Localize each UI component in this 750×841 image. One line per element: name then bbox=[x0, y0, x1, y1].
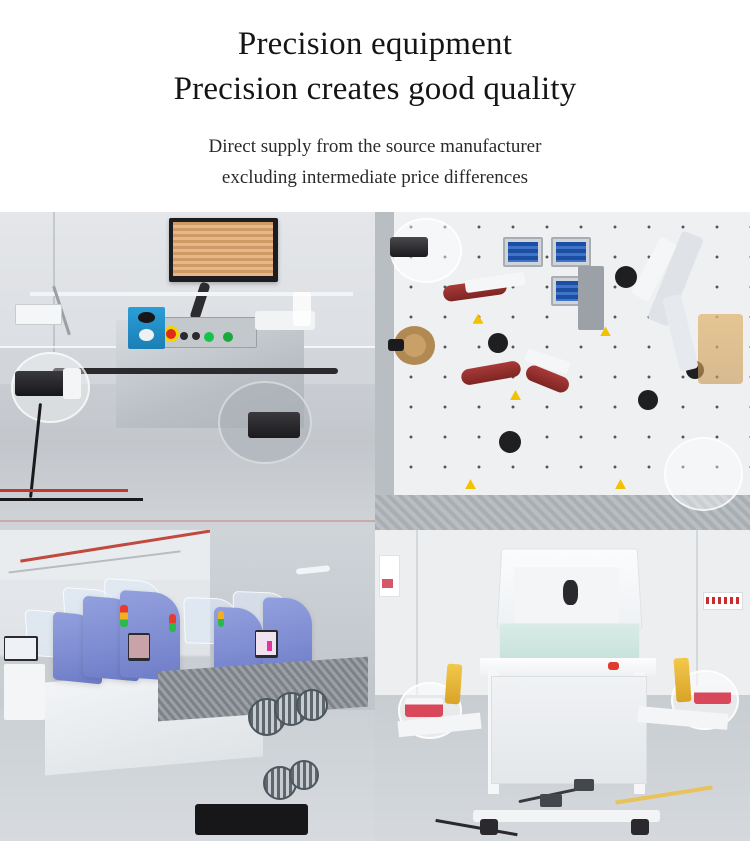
wall-seam bbox=[53, 212, 55, 352]
tan-paper-reel bbox=[394, 326, 435, 364]
lcd-controller-1 bbox=[503, 237, 543, 267]
subhead-line-1: Direct supply from the source manufactur… bbox=[0, 132, 750, 163]
red-warning-sign bbox=[703, 592, 743, 610]
promo-banner-page: Precision equipment Precision creates go… bbox=[0, 0, 750, 841]
photo-factory-line bbox=[0, 530, 375, 841]
left-unwind-core bbox=[405, 698, 443, 717]
subhead-line-2: excluding intermediate price differences bbox=[0, 163, 750, 194]
black-idler-roller-3 bbox=[638, 390, 658, 410]
black-idler-roller-5 bbox=[499, 431, 521, 453]
right-rewind-core bbox=[694, 686, 732, 705]
wall-panel-seam-left bbox=[416, 530, 418, 698]
yellow-guard-post-right bbox=[674, 657, 692, 701]
monitor-screen bbox=[169, 218, 278, 282]
bottom-right-reel bbox=[664, 437, 743, 511]
wall-notice-sheet bbox=[379, 555, 400, 597]
wall-power-socket bbox=[15, 304, 62, 325]
monitor-lower-panel bbox=[173, 258, 273, 276]
floor-marking-line bbox=[0, 520, 375, 522]
table-under-cabinet bbox=[491, 676, 647, 784]
black-idler-roller-2 bbox=[488, 333, 508, 353]
red-control-button bbox=[608, 662, 619, 670]
top-left-reel-core bbox=[390, 237, 428, 256]
power-adapter-1 bbox=[540, 794, 562, 807]
headline-line-1: Precision equipment bbox=[0, 22, 750, 67]
frosted-glass-worktop bbox=[499, 623, 640, 662]
photo-converting-line-closeup bbox=[375, 212, 750, 530]
stack-light-tower-1 bbox=[120, 605, 128, 627]
right-reel-core bbox=[248, 412, 301, 437]
amber-lit-section bbox=[698, 314, 743, 384]
grey-housing bbox=[578, 266, 604, 330]
page-title: Precision equipment Precision creates go… bbox=[0, 22, 750, 112]
caster-wheel-right bbox=[631, 819, 649, 835]
left-reel-core bbox=[15, 371, 75, 396]
black-roller-bar bbox=[53, 368, 338, 374]
green-start-button-1 bbox=[204, 332, 214, 342]
red-cable bbox=[0, 489, 128, 492]
striped-roller-5 bbox=[289, 760, 319, 790]
photo-inspection-table bbox=[375, 530, 750, 841]
black-cable-horizontal bbox=[0, 498, 143, 501]
yellow-guard-post-left bbox=[445, 663, 463, 704]
lcd-controller-2 bbox=[551, 237, 591, 267]
spray-bottle bbox=[293, 292, 312, 327]
power-adapter-2 bbox=[574, 779, 594, 791]
page-subtitle: Direct supply from the source manufactur… bbox=[0, 132, 750, 194]
operator-monitor-left bbox=[4, 636, 38, 661]
machine-hmi-screen-2 bbox=[255, 630, 278, 658]
photo-slitting-machine bbox=[0, 212, 375, 530]
mobile-workstation-cart bbox=[4, 664, 45, 720]
inspection-camera bbox=[563, 580, 578, 605]
stack-light-tower-2 bbox=[169, 614, 176, 632]
striped-roller-3 bbox=[296, 689, 328, 721]
machine-hmi-screen-1 bbox=[128, 633, 151, 661]
blue-encoder-box bbox=[128, 307, 166, 348]
green-start-button-2 bbox=[223, 332, 233, 342]
headline-line-2: Precision creates good quality bbox=[0, 67, 750, 112]
front-apron bbox=[480, 658, 656, 677]
monitor-arm bbox=[189, 281, 210, 320]
header: Precision equipment Precision creates go… bbox=[0, 0, 750, 193]
photo-gallery bbox=[0, 212, 750, 841]
stack-light-tower-3 bbox=[218, 611, 224, 627]
black-collection-tray bbox=[195, 804, 308, 835]
black-idler-roller-1 bbox=[615, 266, 637, 288]
